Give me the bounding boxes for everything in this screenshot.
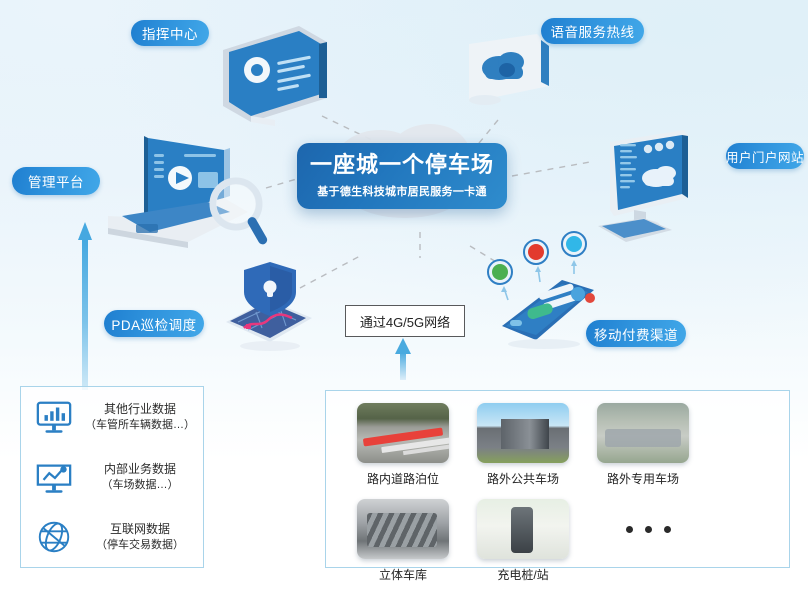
gallery-item[interactable]: 充电桩/站 xyxy=(468,499,578,583)
gallery-item[interactable]: 路外公共车场 xyxy=(468,403,578,487)
gallery-caption: 路内道路泊位 xyxy=(348,470,458,487)
data-row-title: 内部业务数据 xyxy=(77,461,203,477)
page-subtitle: 基于德生科技城市居民服务一卡通 xyxy=(317,183,487,199)
gallery-caption: 立体车库 xyxy=(348,566,458,583)
gallery-item[interactable]: 路内道路泊位 xyxy=(348,403,458,487)
monitor-bar-chart-icon xyxy=(31,396,77,438)
gallery-row: 路内道路泊位 路外公共车场 路外专用车场 xyxy=(348,403,789,487)
dot xyxy=(664,526,671,533)
page-title: 一座城一个停车场 xyxy=(310,153,494,177)
command-center-monitor xyxy=(215,22,335,132)
dot xyxy=(626,526,633,533)
data-sources-panel: 其他行业数据 （车管所车辆数据…） 内部业务数据 （车场数据…） xyxy=(20,386,204,568)
user-portal-desktop xyxy=(588,124,718,254)
label-command-center[interactable]: 指挥中心 xyxy=(131,20,209,46)
data-row-title: 其他行业数据 xyxy=(77,401,203,417)
data-row-subtitle: （停车交易数据） xyxy=(77,538,203,553)
data-row-subtitle: （车场数据…） xyxy=(77,478,203,493)
management-laptop xyxy=(88,132,268,260)
data-row[interactable]: 互联网数据 （停车交易数据） xyxy=(21,507,203,567)
infographic-canvas: 指挥中心 语音服务热线 xyxy=(0,0,808,590)
gallery-item[interactable]: 路外专用车场 xyxy=(588,403,698,487)
thumbnail-dedicated-lot xyxy=(597,403,689,463)
data-to-platform-arrow xyxy=(78,222,92,390)
thumbnail-stereo-garage xyxy=(357,499,449,559)
voice-hotline-bubble xyxy=(455,28,555,110)
thumbnail-charging-station xyxy=(477,499,569,559)
monitor-line-chart-icon xyxy=(31,456,77,498)
thumbnail-public-lot xyxy=(477,403,569,463)
gallery-row: 立体车库 充电桩/站 xyxy=(348,499,789,583)
title-card: 一座城一个停车场 基于德生科技城市居民服务一卡通 xyxy=(297,143,507,209)
data-row[interactable]: 其他行业数据 （车管所车辆数据…） xyxy=(21,387,203,447)
gallery-caption: 路外专用车场 xyxy=(588,470,698,487)
data-row-title: 互联网数据 xyxy=(77,521,203,537)
network-box: 通过4G/5G网络 xyxy=(345,305,465,337)
thumbnail-on-street-parking xyxy=(357,403,449,463)
gallery-item[interactable]: 立体车库 xyxy=(348,499,458,583)
ellipsis-dots xyxy=(588,499,708,559)
gallery-item-more xyxy=(588,499,698,583)
label-voice-hotline[interactable]: 语音服务热线 xyxy=(541,18,644,44)
network-arrow xyxy=(395,338,411,380)
gallery-caption: 路外公共车场 xyxy=(468,470,578,487)
label-mobile-payment[interactable]: 移动付费渠道 xyxy=(586,320,686,347)
gallery-caption: 充电桩/站 xyxy=(468,566,578,583)
parking-scenarios-gallery: 路内道路泊位 路外公共车场 路外专用车场 立体车库 充电桩/站 xyxy=(325,390,790,568)
label-pda-dispatch[interactable]: PDA巡检调度 xyxy=(104,310,204,337)
label-management-platform[interactable]: 管理平台 xyxy=(12,167,100,195)
globe-network-icon xyxy=(31,516,77,558)
dot xyxy=(645,526,652,533)
data-row-subtitle: （车管所车辆数据…） xyxy=(77,418,203,433)
data-row[interactable]: 内部业务数据 （车场数据…） xyxy=(21,447,203,507)
label-user-portal[interactable]: 用户门户网站 xyxy=(726,143,804,169)
pda-tablet-shield xyxy=(216,256,328,352)
